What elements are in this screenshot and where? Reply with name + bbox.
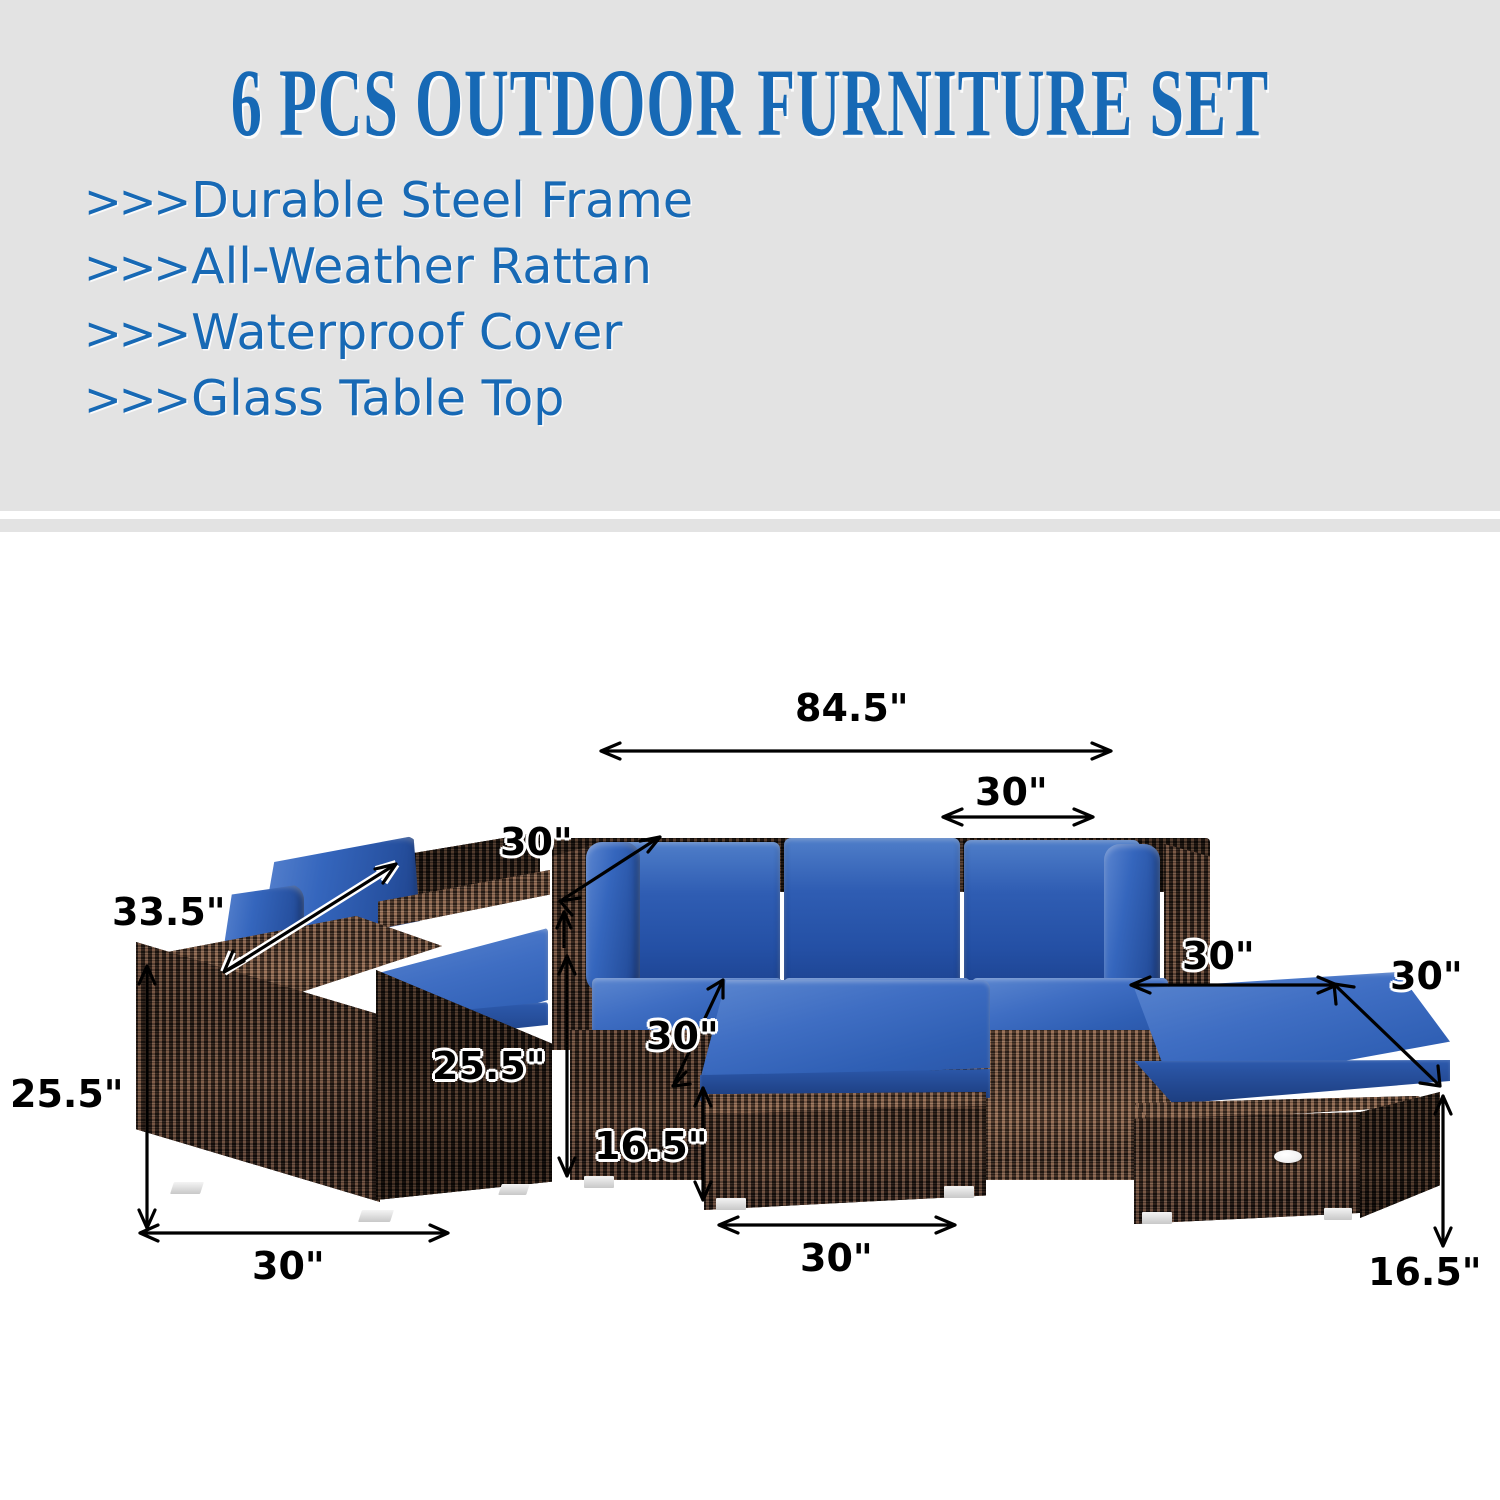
armchair-foot (358, 1210, 394, 1222)
feature-label: All-Weather Rattan (191, 234, 652, 299)
dimension-sofa-depth: 30" (500, 820, 573, 864)
sofa-left-bolster (586, 842, 640, 992)
chevron-bullet-icon: >>> (84, 235, 188, 300)
ottoman-center-cushion-top (700, 980, 990, 1080)
ottoman-center-foot (944, 1186, 974, 1198)
dimension-ottoman-center-height: 16.5" (594, 1124, 708, 1168)
feature-label: Glass Table Top (191, 366, 564, 431)
ottoman-center-foot (716, 1198, 746, 1210)
ottoman-right-foot (1142, 1212, 1172, 1224)
furniture-ottoman-right (1128, 972, 1450, 1230)
feature-item: >>> Glass Table Top (84, 366, 693, 432)
dimension-ottoman-center-depth: 30" (646, 1014, 719, 1058)
chevron-bullet-icon: >>> (84, 301, 188, 366)
ottoman-right-foot (1324, 1208, 1352, 1220)
brand-oval-badge (1274, 1150, 1302, 1163)
page-title: 6 PCS OUTDOOR FURNITURE SET (105, 48, 1395, 159)
sofa-back-cushion (784, 838, 960, 990)
armchair-near-arm-face (136, 942, 380, 1202)
product-diagram: 33.5" 25.5" 30" (0, 532, 1500, 1500)
furniture-ottoman-center (700, 980, 990, 1222)
dimension-ottoman-center-width: 30" (800, 1236, 873, 1280)
ottoman-right-body-side (1360, 1092, 1440, 1218)
chevron-bullet-icon: >>> (84, 169, 188, 234)
sofa-width-arrow (596, 738, 1116, 764)
dimension-armchair-back-height: 33.5" (112, 890, 226, 934)
feature-label: Durable Steel Frame (191, 168, 693, 233)
armchair-foot (498, 1184, 530, 1195)
feature-item: >>> Waterproof Cover (84, 300, 693, 366)
header-banner: 6 PCS OUTDOOR FURNITURE SET >>> Durable … (0, 0, 1500, 511)
dimension-armchair-height: 25.5" (10, 1072, 124, 1116)
dimension-armchair-width: 30" (252, 1244, 325, 1288)
feature-item: >>> Durable Steel Frame (84, 168, 693, 234)
dimension-sofa-height: 25.5" (432, 1044, 546, 1088)
chevron-bullet-icon: >>> (84, 367, 188, 432)
dimension-sofa-seat-width: 30" (975, 770, 1048, 814)
dimension-ottoman-right-height: 16.5" (1368, 1250, 1482, 1294)
feature-label: Waterproof Cover (191, 300, 622, 365)
dimension-sofa-width: 84.5" (795, 686, 909, 730)
sofa-foot (584, 1176, 614, 1188)
feature-item: >>> All-Weather Rattan (84, 234, 693, 300)
banner-divider-stripe (0, 519, 1500, 532)
armchair-foot (170, 1182, 204, 1194)
dimension-ottoman-right-depth: 30" (1390, 954, 1463, 998)
dimension-ottoman-right-width: 30" (1182, 934, 1255, 978)
feature-list: >>> Durable Steel Frame >>> All-Weather … (84, 168, 693, 432)
